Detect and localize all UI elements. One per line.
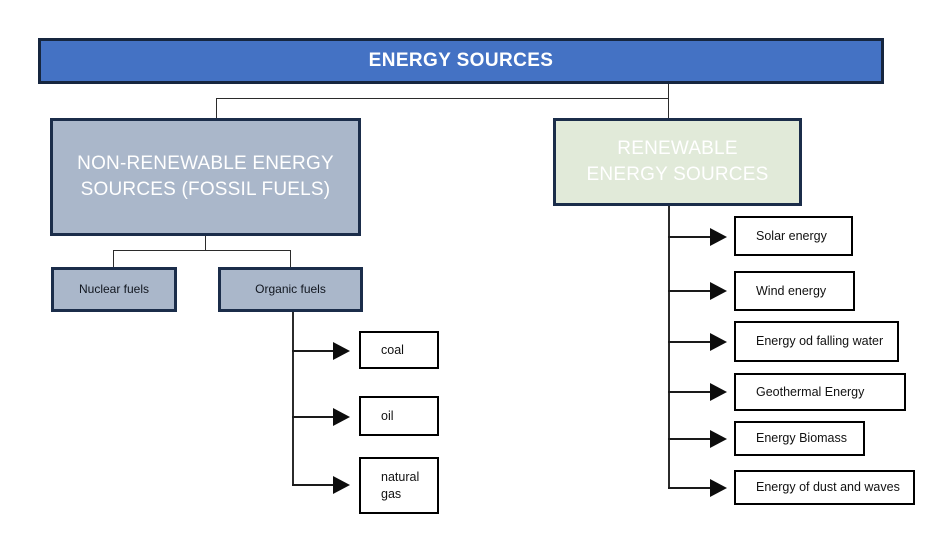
connector-nonrenewable-to-nuclear [113,250,114,267]
node-dust-and-waves-energy[interactable]: Energy of dust and waves [734,470,915,505]
node-nuclear-fuels[interactable]: Nuclear fuels [51,267,177,312]
arrow-head-dust-and-waves-energy-icon [710,479,727,497]
category-non-renewable-label-line2: SOURCES (FOSSIL FUELS) [77,177,334,203]
category-renewable-label-line1: RENEWABLE [587,136,769,162]
node-nuclear-fuels-label: Nuclear fuels [79,281,149,297]
root-node-energy-sources[interactable]: ENERGY SOURCES [38,38,884,84]
category-renewable-energy-sources[interactable]: RENEWABLE ENERGY SOURCES [553,118,802,206]
node-coal-label: coal [381,342,404,359]
node-falling-water-energy-label: Energy od falling water [756,333,883,350]
connector-arrow-line-wind-energy [668,290,713,292]
arrow-head-natural-gas-icon [333,476,350,494]
arrow-head-coal-icon [333,342,350,360]
node-geothermal-energy[interactable]: Geothermal Energy [734,373,906,411]
arrow-head-solar-energy-icon [710,228,727,246]
category-renewable-label-line2: ENERGY SOURCES [587,162,769,188]
connector-arrow-line-geothermal-energy [668,391,713,393]
node-wind-energy[interactable]: Wind energy [734,271,855,311]
node-wind-energy-label: Wind energy [756,283,826,300]
node-dust-and-waves-energy-label: Energy of dust and waves [756,479,900,496]
node-solar-energy[interactable]: Solar energy [734,216,853,256]
node-coal[interactable]: coal [359,331,439,369]
arrow-head-oil-icon [333,408,350,426]
connector-root-horizontal [216,98,669,99]
node-natural-gas-label-line2: gas [381,486,419,503]
connector-arrow-line-coal [292,350,336,352]
connector-arrow-line-natural-gas [292,484,336,486]
connector-root-stub [668,84,669,98]
node-oil-label: oil [381,408,394,425]
arrow-head-falling-water-energy-icon [710,333,727,351]
connector-arrow-line-energy-biomass [668,438,713,440]
connector-nonrenewable-horizontal [113,250,291,251]
arrow-head-geothermal-energy-icon [710,383,727,401]
node-oil[interactable]: oil [359,396,439,436]
node-falling-water-energy[interactable]: Energy od falling water [734,321,899,362]
node-natural-gas-label-line1: natural [381,469,419,486]
node-natural-gas[interactable]: natural gas [359,457,439,514]
node-solar-energy-label: Solar energy [756,228,827,245]
node-geothermal-energy-label: Geothermal Energy [756,384,864,401]
energy-sources-diagram: ENERGY SOURCES NON-RENEWABLE ENERGY SOUR… [0,0,951,546]
connector-nonrenewable-to-organic [290,250,291,267]
arrow-head-energy-biomass-icon [710,430,727,448]
node-organic-fuels[interactable]: Organic fuels [218,267,363,312]
node-energy-biomass-label: Energy Biomass [756,430,847,447]
connector-arrow-line-falling-water-energy [668,341,713,343]
connector-arrow-line-oil [292,416,336,418]
connector-root-to-renewable [668,98,669,118]
root-node-label: ENERGY SOURCES [369,48,554,74]
category-non-renewable-energy-sources[interactable]: NON-RENEWABLE ENERGY SOURCES (FOSSIL FUE… [50,118,361,236]
connector-organic-fuels-trunk [292,312,294,484]
node-energy-biomass[interactable]: Energy Biomass [734,421,865,456]
connector-arrow-line-dust-and-waves-energy [668,487,713,489]
category-non-renewable-label-line1: NON-RENEWABLE ENERGY [77,151,334,177]
connector-arrow-line-solar-energy [668,236,713,238]
connector-nonrenewable-stub [205,236,206,250]
connector-renewable-trunk [668,206,670,489]
connector-root-to-nonrenewable [216,98,217,118]
arrow-head-wind-energy-icon [710,282,727,300]
node-organic-fuels-label: Organic fuels [255,281,326,297]
